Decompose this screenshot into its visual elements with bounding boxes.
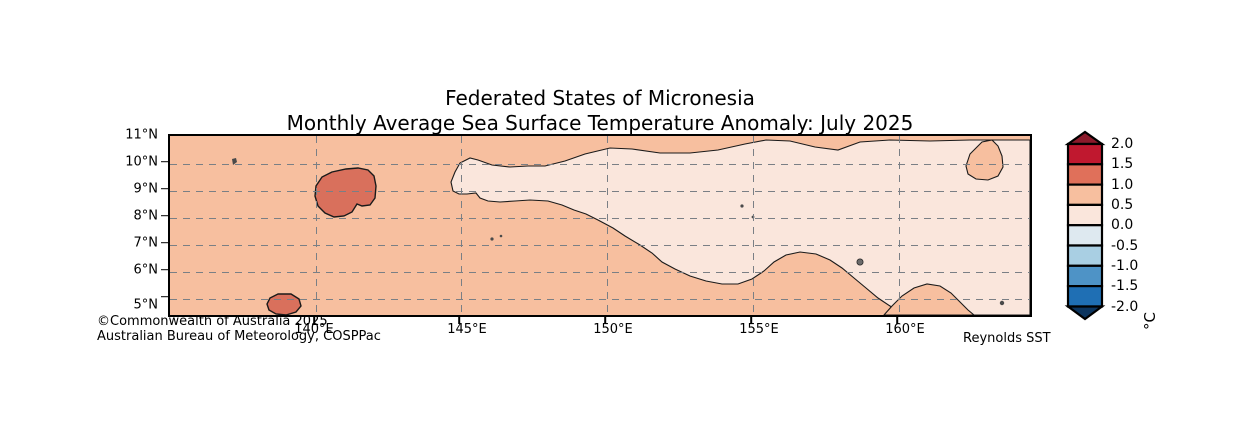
- title-line-region: Federated States of Micronesia: [0, 86, 1200, 111]
- data-source-label: Reynolds SST: [963, 331, 1051, 346]
- island-dot-6: [857, 259, 863, 265]
- colorbar-tick-1.0: 1.0: [1111, 177, 1133, 193]
- ytick-mark-5N: [161, 296, 168, 298]
- ytick-label-7N: 7°N: [98, 236, 158, 251]
- colorbar-over-arrow: [1068, 132, 1102, 144]
- island-dot-4: [740, 204, 743, 207]
- credit-line-agency: Australian Bureau of Meteorology, COSPPa…: [97, 329, 381, 344]
- ytick-label-11N: 11°N: [98, 128, 158, 143]
- colorbar-under-arrow: [1068, 307, 1102, 320]
- copyright-credits: ©Commonwealth of Australia 2025 Australi…: [97, 314, 381, 344]
- ytick-mark-9N: [161, 188, 168, 190]
- xtick-label-150E: 150°E: [593, 322, 633, 337]
- island-dot-5: [752, 216, 755, 219]
- ytick-mark-6N: [161, 269, 168, 271]
- island-dot-2: [490, 237, 493, 240]
- xtick-label-160E: 160°E: [885, 322, 925, 337]
- colorbar-band-neg2.0-neg1.5: [1068, 286, 1102, 306]
- colorbar-band-1.5-2.0: [1068, 144, 1102, 164]
- ytick-mark-10N: [161, 161, 168, 163]
- ytick-label-9N: 9°N: [98, 182, 158, 197]
- colorbar-tick-neg2.0: -2.0: [1111, 299, 1138, 315]
- sst-anomaly-contour-map: [170, 136, 1030, 315]
- colorbar-band-0.5-1.0: [1068, 185, 1102, 205]
- ytick-label-6N: 6°N: [98, 263, 158, 278]
- colorbar-band-0.0-0.5: [1068, 205, 1102, 225]
- ytick-label-5N: 5°N: [98, 298, 158, 313]
- island-dot-7: [1000, 301, 1004, 305]
- colorbar-tick-neg0.5: -0.5: [1111, 238, 1138, 254]
- colorbar-tick-1.5: 1.5: [1111, 156, 1133, 172]
- xtick-label-145E: 145°E: [447, 322, 487, 337]
- colorbar-tick-0.0: 0.0: [1111, 217, 1133, 233]
- sst-anomaly-figure: Federated States of Micronesia Monthly A…: [0, 0, 1258, 447]
- colorbar-unit-label: °C: [1141, 312, 1159, 330]
- colorbar-tick-neg1.5: -1.5: [1111, 278, 1138, 294]
- band-1.0-1.5-core-southwest: [267, 294, 301, 315]
- colorbar-tick-neg1.0: -1.0: [1111, 258, 1138, 274]
- ytick-mark-7N: [161, 242, 168, 244]
- colorbar-band-1.0-1.5: [1068, 164, 1102, 184]
- map-plot-area: [168, 134, 1032, 317]
- figure-title: Federated States of Micronesia Monthly A…: [0, 86, 1200, 136]
- colorbar-band-neg1.0-neg0.5: [1068, 246, 1102, 266]
- colorbar-tick-0.5: 0.5: [1111, 197, 1133, 213]
- ytick-label-8N: 8°N: [98, 209, 158, 224]
- title-line-subtitle: Monthly Average Sea Surface Temperature …: [0, 111, 1200, 136]
- ytick-mark-8N: [161, 215, 168, 217]
- xtick-label-155E: 155°E: [739, 322, 779, 337]
- colorbar-tick-2.0: 2.0: [1111, 136, 1133, 152]
- island-dot-3: [500, 235, 503, 238]
- colorbar-band-neg1.5-neg1.0: [1068, 266, 1102, 286]
- colorbar-band-neg0.5-0.0: [1068, 225, 1102, 245]
- colorbar: 2.0 1.5 1.0 0.5 0.0 -0.5 -1.0 -1.5 -2.0 …: [1063, 128, 1253, 323]
- credit-line-copyright: ©Commonwealth of Australia 2025: [97, 314, 381, 329]
- ytick-label-10N: 10°N: [98, 155, 158, 170]
